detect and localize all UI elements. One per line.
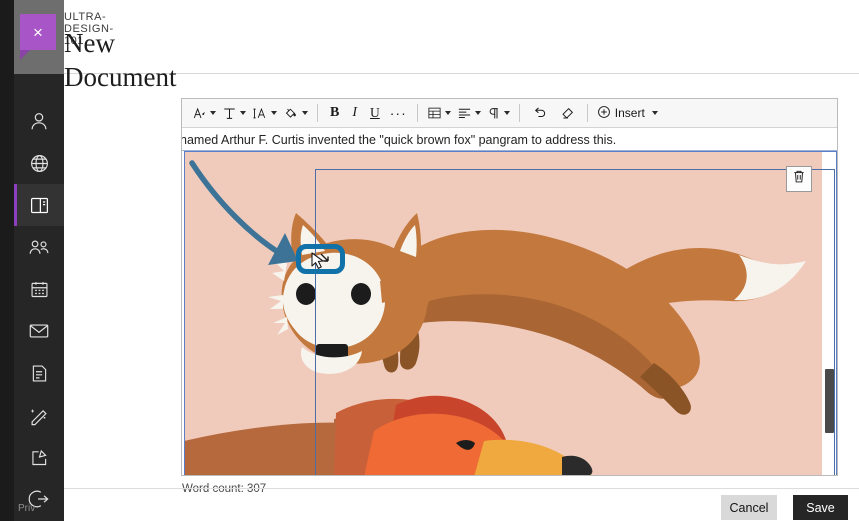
close-button[interactable]: × [20,14,56,50]
chevron-down-icon [210,111,216,115]
toolbar-divider [317,104,318,122]
table-button[interactable] [424,102,454,124]
highlight-color-button[interactable] [280,102,311,124]
sidebar-item-organizations[interactable] [14,226,64,268]
page-title: New Document [64,26,176,94]
undo-arrow-icon [532,106,548,120]
toolbar-divider [519,104,520,122]
more-options-button[interactable]: ··· [386,102,411,124]
cancel-button[interactable]: Cancel [721,495,777,520]
privacy-link[interactable]: Priv [18,502,64,515]
document-body-text[interactable]: named Arthur F. Curtis invented the "qui… [182,129,837,151]
leaping-fox-illustration [184,151,822,475]
nav-rail-edge [0,0,14,521]
font-size-A-icon [252,106,268,121]
text-T-icon [222,106,237,121]
table-icon [427,106,442,120]
chevron-down-icon [475,111,481,115]
compose-edit-icon [29,447,50,468]
text-format-button[interactable] [219,102,249,124]
app-root: Priv ULTRA-DESIGN-101 New Document × [0,0,859,521]
toolbar-divider [587,104,588,122]
editor-toolbar: B I U ··· [182,99,837,128]
sidebar-item-messages[interactable] [14,310,64,352]
paint-bucket-icon [283,106,299,121]
undo-button[interactable] [526,102,554,124]
tools-pencil-icon [28,404,50,426]
text-style-button[interactable] [189,102,219,124]
insert-button[interactable]: Insert [594,105,661,122]
align-button[interactable] [454,102,484,124]
calendar-icon [29,279,50,300]
word-count-label: Word count: 307 [182,483,266,495]
insert-label: Insert [615,106,645,120]
inserted-image[interactable] [184,151,822,475]
pilcrow-icon [487,106,501,121]
close-icon: × [33,24,43,41]
nav-items [14,100,64,520]
sidebar-item-grades[interactable] [14,352,64,394]
font-size-button[interactable] [249,102,280,124]
bold-button[interactable]: B [324,102,345,124]
delete-image-button[interactable] [786,166,812,192]
page-header: ULTRA-DESIGN-101 New Document [64,0,859,74]
toolbar-divider [417,104,418,122]
footer-divider [64,488,859,489]
left-nav-rail: Priv [0,0,64,521]
chevron-down-icon [504,111,510,115]
chevron-down-icon [302,111,308,115]
group-people-icon [28,236,51,259]
paragraph-button[interactable] [484,102,513,124]
image-canvas-area [182,150,837,475]
book-icon [29,195,50,216]
person-icon [28,110,50,132]
document-editor: B I U ··· [181,98,838,476]
grades-document-icon [29,363,50,384]
trash-icon [792,169,806,189]
clear-formatting-button[interactable] [554,102,581,124]
eraser-icon [560,106,575,121]
sidebar-item-institution-page[interactable] [14,142,64,184]
document-text-content: named Arthur F. Curtis invented the "qui… [182,133,616,147]
chevron-down-icon [652,111,658,115]
sidebar-item-sign-up[interactable] [14,436,64,478]
style-pen-icon [192,106,207,121]
chevron-down-icon [240,111,246,115]
save-button[interactable]: Save [793,495,848,520]
envelope-icon [28,320,50,342]
plus-circle-icon [597,105,611,122]
sidebar-item-calendar[interactable] [14,268,64,310]
italic-button[interactable]: I [345,102,364,124]
chevron-down-icon [271,111,277,115]
chevron-down-icon [445,111,451,115]
align-left-icon [457,106,472,120]
globe-icon [29,153,50,174]
sidebar-item-courses[interactable] [14,184,64,226]
sidebar-item-profile[interactable] [14,100,64,142]
image-scrollbar-thumb[interactable] [825,369,834,433]
underline-button[interactable]: U [364,102,386,124]
sidebar-item-tools[interactable] [14,394,64,436]
